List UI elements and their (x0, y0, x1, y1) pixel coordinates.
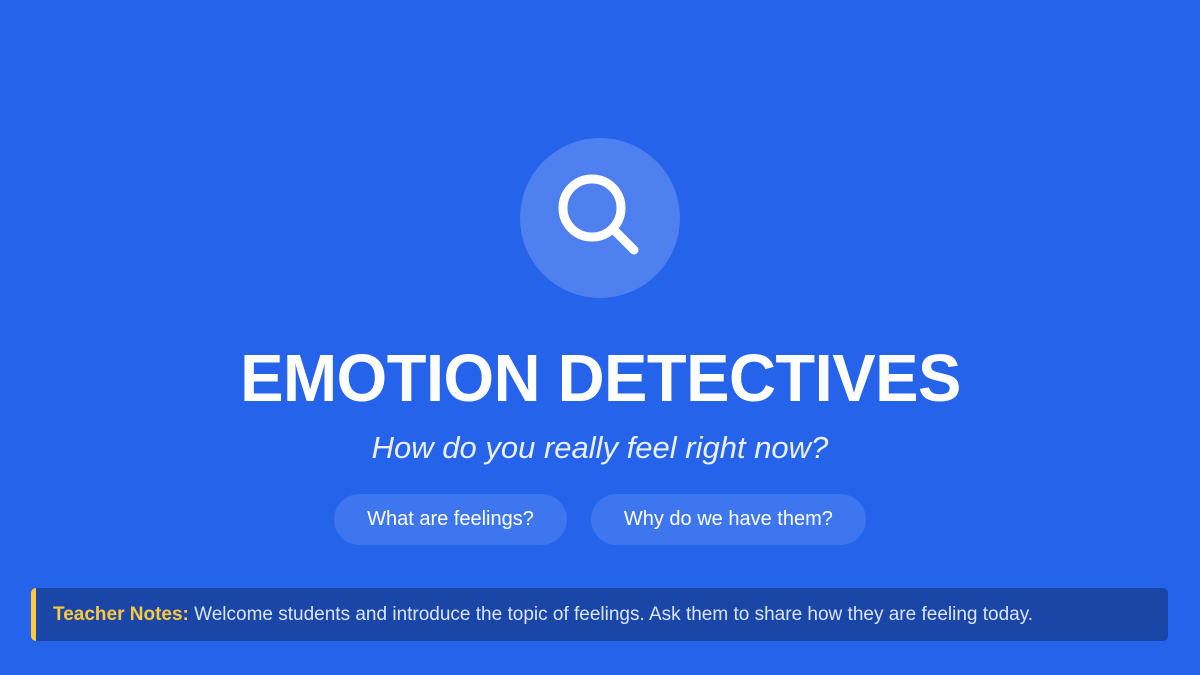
teacher-notes-bar: Teacher Notes: Welcome students and intr… (31, 588, 1168, 641)
teacher-notes-label: Teacher Notes: (53, 604, 189, 625)
prompt-pill-why-do-we-have-them[interactable]: Why do we have them? (591, 494, 866, 545)
prompt-pill-what-are-feelings[interactable]: What are feelings? (334, 494, 567, 545)
magnifier-icon (545, 163, 655, 273)
hero-stack: EMOTION DETECTIVES How do you really fee… (0, 0, 1200, 575)
prompt-pill-row: What are feelings? Why do we have them? (334, 494, 866, 545)
page-title: EMOTION DETECTIVES (240, 345, 961, 412)
teacher-notes-text: Teacher Notes: Welcome students and intr… (53, 603, 1033, 627)
page-subtitle: How do you really feel right now? (372, 431, 829, 465)
magnifier-icon-badge (520, 138, 680, 298)
teacher-notes-body-text: Welcome students and introduce the topic… (194, 604, 1033, 625)
slide-root: EMOTION DETECTIVES How do you really fee… (0, 0, 1200, 675)
